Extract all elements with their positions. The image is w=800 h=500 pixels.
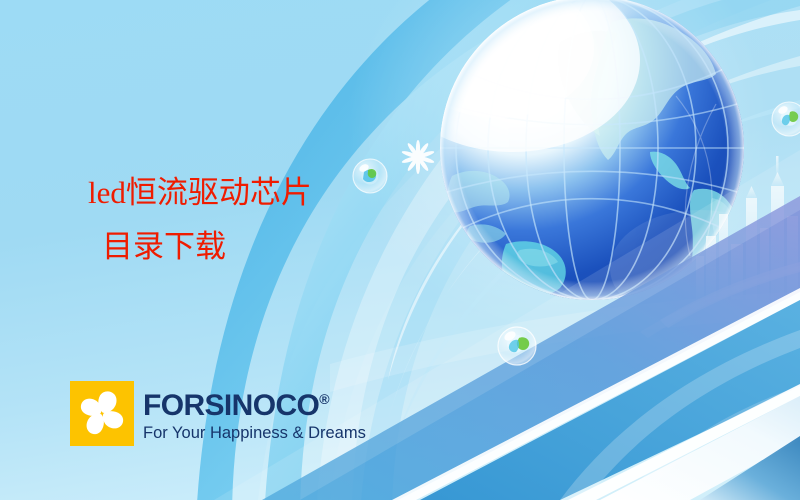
bubble-globe-right (772, 102, 800, 136)
headline-line-1: led恒流驱动芯片 (88, 175, 312, 210)
brand-name: FORSINOCO® (143, 383, 366, 422)
bubble-globe-left (353, 159, 387, 193)
headline-line-2: 目录下载 (88, 220, 312, 274)
logo-mark (70, 381, 134, 446)
brand-name-text: FORSINOCO (143, 389, 319, 422)
brand-logo: FORSINOCO® For Your Happiness & Dreams (70, 381, 366, 446)
brand-tagline: For Your Happiness & Dreams (143, 423, 366, 443)
four-petal-pinwheel-icon (70, 381, 134, 446)
bubble-globe-center (498, 327, 536, 365)
registered-mark: ® (319, 391, 329, 407)
logo-text-block: FORSINOCO® For Your Happiness & Dreams (143, 383, 366, 443)
banner-image: led恒流驱动芯片 目录下载 FORSINOCO® For Your Happi… (0, 0, 800, 500)
headline-text: led恒流驱动芯片 目录下载 (88, 166, 312, 274)
